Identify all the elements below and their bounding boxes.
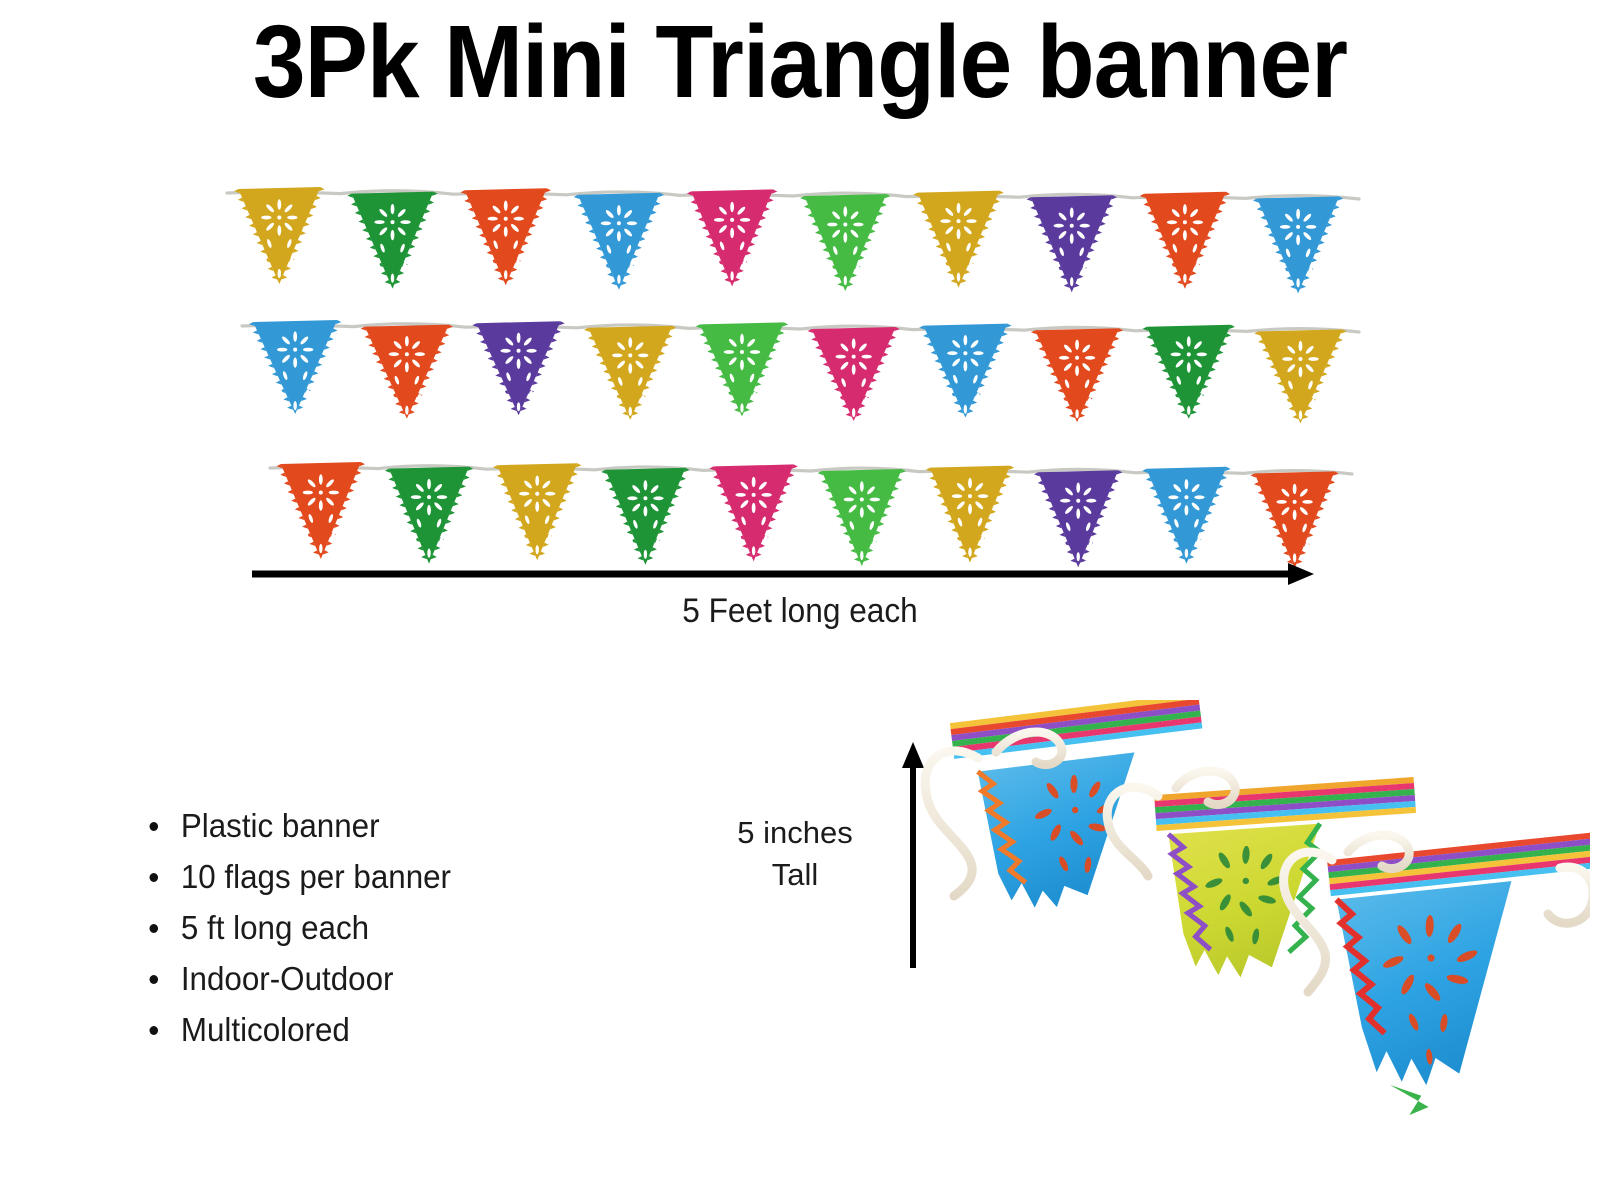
pennant-flag	[687, 189, 777, 286]
pennant-flag	[913, 191, 1003, 288]
list-item: Plastic banner	[140, 800, 672, 851]
pennant-flag	[818, 469, 906, 566]
banner-row-2	[240, 298, 1375, 428]
pennant-flag	[493, 463, 581, 560]
banner-illustration-group	[0, 165, 1600, 585]
pennant-flag	[347, 192, 437, 289]
banner-row-3-graphic	[268, 440, 1368, 570]
pennant-flag	[1143, 325, 1235, 419]
list-item: 10 flags per banner	[140, 851, 672, 902]
pennant-flag	[234, 187, 324, 284]
pennant-flag	[1253, 196, 1343, 293]
pennant-flag	[277, 462, 365, 559]
product-photo	[900, 700, 1590, 1130]
pennant-flag	[807, 327, 899, 421]
pennant-flag	[1027, 195, 1117, 292]
photo-bundle-right	[1284, 832, 1590, 1120]
list-item: Indoor-Outdoor	[140, 953, 672, 1004]
height-measure-label: 5 inches Tall	[700, 812, 890, 896]
pennant-flag	[919, 324, 1011, 418]
pennant-flag	[1254, 329, 1346, 423]
pennant-flag	[709, 464, 797, 561]
pennant-flag	[584, 326, 676, 420]
product-infographic: 3Pk Mini Triangle banner 5 Feet long eac…	[0, 0, 1600, 1184]
length-measure-label: 5 Feet long each	[56, 592, 1544, 631]
pennant-flag	[1250, 471, 1338, 568]
page-title: 3Pk Mini Triangle banner	[64, 4, 1536, 119]
feature-list: Plastic banner 10 flags per banner 5 ft …	[140, 800, 700, 1055]
banner-row-2-graphic	[240, 298, 1375, 428]
pennant-flag	[926, 466, 1014, 563]
banner-row-3	[268, 440, 1368, 570]
pennant-flag	[1142, 467, 1230, 564]
banner-row-1-graphic	[225, 165, 1375, 295]
list-item: Multicolored	[140, 1004, 672, 1055]
height-measure-label-line2: Tall	[700, 854, 890, 896]
pennant-flag	[696, 322, 788, 416]
pennant-flag	[601, 468, 689, 565]
length-measure-arrow	[252, 563, 1314, 585]
pennant-flag	[249, 320, 341, 414]
pennant-flag	[361, 325, 453, 419]
pennant-flag	[1031, 328, 1123, 422]
pennant-flag	[800, 194, 890, 291]
pennant-flag	[574, 193, 664, 290]
banner-row-1	[225, 165, 1375, 295]
height-measure-label-line1: 5 inches	[700, 812, 890, 854]
pennant-flag	[461, 188, 551, 285]
pennant-flag	[1034, 470, 1122, 567]
pennant-flag	[1140, 192, 1230, 289]
pennant-flag	[385, 467, 473, 564]
pennant-flag	[472, 321, 564, 415]
list-item: 5 ft long each	[140, 902, 672, 953]
